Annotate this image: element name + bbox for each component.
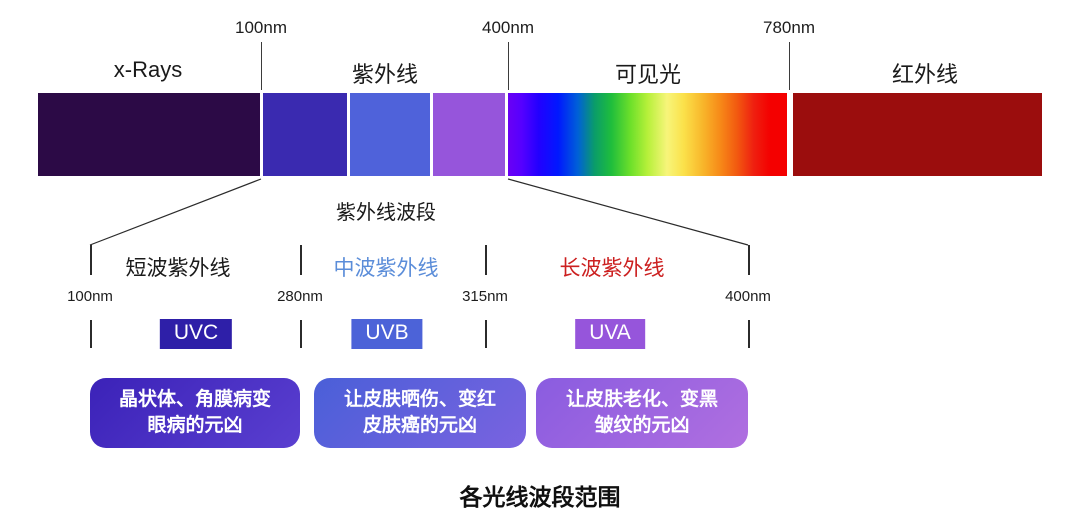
uv-nm-label: 100nm <box>67 288 113 305</box>
uv-tick-lower <box>748 320 750 348</box>
uvc-effects: 晶状体、角膜病变眼病的元凶 <box>90 378 300 448</box>
connector-right <box>508 179 748 245</box>
pill-line-1: 让皮肤晒伤、变红 <box>344 387 496 413</box>
uv-nm-label: 280nm <box>277 288 323 305</box>
uv-subband-label: 短波紫外线 <box>126 252 231 282</box>
uv-tick-lower <box>300 320 302 348</box>
page-title: 各光线波段范围 <box>460 478 621 512</box>
pill-line-2: 皮肤癌的元凶 <box>344 413 496 439</box>
pill-line-2: 皱纹的元凶 <box>566 413 718 439</box>
uvb-effects: 让皮肤晒伤、变红皮肤癌的元凶 <box>314 378 526 448</box>
uv-subband-label: 长波紫外线 <box>560 252 665 282</box>
pill-line-1: 让皮肤老化、变黑 <box>566 387 718 413</box>
uv-tick-lower <box>90 320 92 348</box>
uv-nm-label: 315nm <box>462 288 508 305</box>
connector-left <box>90 179 261 245</box>
uv-badge-uvc: UVC <box>160 319 232 349</box>
uv-section-title: 紫外线波段 <box>336 196 436 225</box>
uv-subband-label: 中波紫外线 <box>334 252 439 282</box>
spectrum-infographic: 100nm400nm780nm x-Rays紫外线可见光红外线 紫外线波段 10… <box>0 0 1080 523</box>
uva-effects: 让皮肤老化、变黑皱纹的元凶 <box>536 378 748 448</box>
uv-badge-uva: UVA <box>575 319 645 349</box>
uv-tick-upper <box>90 245 92 275</box>
pill-line-1: 晶状体、角膜病变 <box>119 387 271 413</box>
uv-nm-label: 400nm <box>725 288 771 305</box>
uv-tick-upper <box>748 245 750 275</box>
uv-tick-upper <box>485 245 487 275</box>
uv-tick-lower <box>485 320 487 348</box>
uv-badge-uvb: UVB <box>351 319 422 349</box>
uv-tick-upper <box>300 245 302 275</box>
pill-line-2: 眼病的元凶 <box>119 413 271 439</box>
